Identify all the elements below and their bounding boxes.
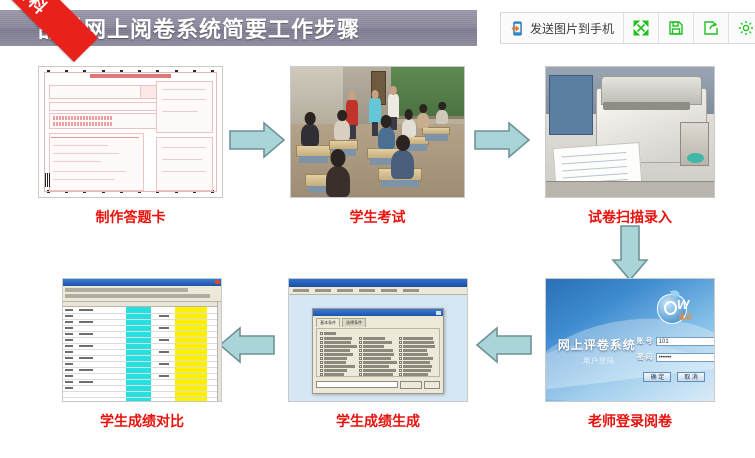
toolbar: 发送图片到手机 bbox=[500, 12, 755, 44]
checkbox-item[interactable] bbox=[320, 361, 357, 364]
checkbox-item[interactable] bbox=[399, 345, 436, 348]
checkbox-item[interactable] bbox=[399, 353, 436, 356]
step-1: 制作答题卡 bbox=[38, 66, 223, 227]
dialog-ok-button[interactable] bbox=[424, 381, 440, 389]
classroom-exam-photo-image bbox=[290, 66, 465, 198]
checkbox-item[interactable] bbox=[320, 341, 357, 344]
checkbox-item[interactable] bbox=[359, 337, 397, 340]
checkbox-item[interactable] bbox=[359, 349, 397, 352]
checkbox-item[interactable] bbox=[399, 349, 436, 352]
step-1-caption: 制作答题卡 bbox=[38, 207, 223, 227]
arrow-4 bbox=[475, 325, 533, 365]
checkbox-item[interactable] bbox=[359, 369, 397, 372]
tab-basic[interactable]: 基本条件 bbox=[316, 318, 340, 327]
arrow-1 bbox=[228, 120, 286, 160]
login-system-title: 网上评卷系统 bbox=[558, 336, 636, 353]
logo-mark: W bbox=[677, 297, 689, 312]
password-label: 密 码 bbox=[637, 352, 653, 362]
step-5: 基本条件 选择条件 bbox=[288, 278, 468, 431]
workflow-diagram: 制作答题卡 bbox=[0, 52, 755, 452]
arrow-3 bbox=[610, 224, 650, 282]
document-scanner-photo-image bbox=[545, 66, 715, 198]
send-to-phone-button[interactable]: 发送图片到手机 bbox=[501, 13, 624, 43]
apply-condition-button[interactable] bbox=[400, 381, 422, 389]
step-2: 学生考试 bbox=[290, 66, 465, 227]
step-3: 试卷扫描录入 bbox=[545, 66, 715, 227]
checkbox-item[interactable] bbox=[320, 349, 357, 352]
login-subtitle: 用户登陆 bbox=[583, 356, 615, 366]
share-export-icon bbox=[703, 20, 719, 36]
account-label: 账 号 bbox=[637, 336, 653, 346]
dialog-window-title bbox=[291, 280, 292, 286]
step-4-caption: 老师登录阅卷 bbox=[545, 411, 715, 431]
checkbox-item[interactable] bbox=[359, 341, 397, 344]
gear-icon bbox=[738, 20, 754, 36]
save-button[interactable] bbox=[659, 13, 694, 43]
fullscreen-button[interactable] bbox=[624, 13, 659, 43]
account-input[interactable]: 101 bbox=[656, 337, 714, 346]
checkbox-item[interactable] bbox=[320, 337, 357, 340]
password-input[interactable]: •••••• bbox=[656, 353, 714, 362]
checkbox-item[interactable] bbox=[399, 369, 436, 372]
checkbox-item[interactable] bbox=[320, 369, 357, 372]
score-comparison-table-image bbox=[62, 278, 222, 402]
fullscreen-icon bbox=[633, 20, 649, 36]
password-row: 密 码 •••••• bbox=[637, 352, 714, 362]
login-ok-button[interactable]: 确 定 bbox=[643, 372, 671, 382]
checkbox-item[interactable] bbox=[359, 365, 397, 368]
checkbox-item[interactable] bbox=[359, 361, 397, 364]
step-5-caption: 学生成绩生成 bbox=[288, 411, 468, 431]
send-to-phone-label: 发送图片到手机 bbox=[530, 20, 614, 37]
tab-optional[interactable]: 选择条件 bbox=[342, 318, 366, 327]
step-2-caption: 学生考试 bbox=[290, 207, 465, 227]
checkbox-item[interactable] bbox=[359, 373, 397, 376]
login-cancel-button[interactable]: 取 消 bbox=[677, 372, 705, 382]
checkbox-item[interactable] bbox=[320, 373, 357, 376]
checkbox-item[interactable] bbox=[359, 353, 397, 356]
settings-dialog: 基本条件 选择条件 bbox=[312, 308, 444, 393]
step-6-caption: 学生成绩对比 bbox=[62, 411, 222, 431]
score-settings-dialog-image: 基本条件 选择条件 bbox=[288, 278, 468, 402]
checkbox-item[interactable] bbox=[320, 365, 357, 368]
checkbox-item[interactable] bbox=[399, 341, 436, 344]
phone-upload-icon bbox=[510, 21, 525, 36]
checkbox-item[interactable] bbox=[359, 345, 397, 348]
settings-button[interactable] bbox=[729, 13, 755, 43]
checkbox-item[interactable] bbox=[320, 353, 357, 356]
checkbox-item[interactable] bbox=[399, 373, 436, 376]
share-button[interactable] bbox=[694, 13, 729, 43]
checkbox-item[interactable] bbox=[320, 345, 357, 348]
step-4: W 8.0 网上评卷系统 用户登陆 账 号 101 密 码 •••••• 确 定… bbox=[545, 278, 715, 431]
checkbox-item[interactable] bbox=[399, 365, 436, 368]
checkbox-item[interactable] bbox=[399, 337, 436, 340]
login-screen-image: W 8.0 网上评卷系统 用户登陆 账 号 101 密 码 •••••• 确 定… bbox=[545, 278, 715, 402]
condition-input[interactable] bbox=[316, 381, 398, 388]
account-row: 账 号 101 bbox=[637, 336, 714, 346]
checkbox-grid bbox=[320, 337, 436, 376]
table-scrollbar[interactable] bbox=[217, 302, 221, 401]
arrow-5 bbox=[218, 325, 276, 365]
checkbox-item[interactable] bbox=[320, 357, 357, 360]
arrow-2 bbox=[473, 120, 531, 160]
step-6: 学生成绩对比 bbox=[62, 278, 222, 431]
answer-sheet-template-image bbox=[38, 66, 223, 198]
checkbox-item[interactable] bbox=[399, 361, 436, 364]
checkbox-item[interactable] bbox=[359, 357, 397, 360]
checkbox-item[interactable] bbox=[399, 357, 436, 360]
logo-version: 8.0 bbox=[679, 312, 692, 322]
save-floppy-icon bbox=[668, 20, 684, 36]
product-logo: W 8.0 bbox=[657, 288, 699, 328]
